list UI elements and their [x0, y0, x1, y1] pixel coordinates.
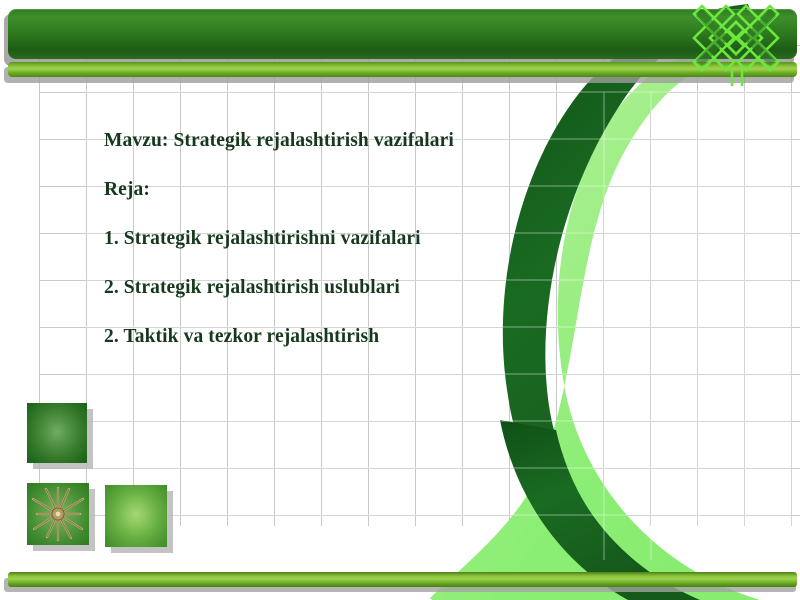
spider-image-square: [27, 483, 89, 545]
slide-title-line: Mavzu: Strategik rejalashtirish vazifala…: [104, 128, 624, 153]
list-item: 2. Taktik va tezkor rejalashtirish: [104, 324, 624, 349]
light-green-gradient-square: [105, 485, 167, 547]
slide-body: Mavzu: Strategik rejalashtirish vazifala…: [104, 128, 624, 349]
footer-bar: [8, 572, 797, 587]
banner-dark-bar: [8, 9, 797, 59]
square-face: [27, 483, 89, 545]
square-face: [27, 403, 87, 463]
slide-canvas: Mavzu: Strategik rejalashtirish vazifala…: [0, 0, 800, 600]
header-banner: [0, 0, 800, 90]
plan-label: Reja:: [104, 177, 624, 202]
list-item: 1. Strategik rejalashtirishni vazifalari: [104, 226, 624, 251]
list-item: 2. Strategik rejalashtirish uslublari: [104, 275, 624, 300]
spider-icon: [27, 483, 89, 545]
banner-light-bar: [8, 62, 797, 77]
celtic-knot-ornament: [684, 0, 788, 86]
dark-green-gradient-square: [27, 403, 87, 463]
square-face: [105, 485, 167, 547]
